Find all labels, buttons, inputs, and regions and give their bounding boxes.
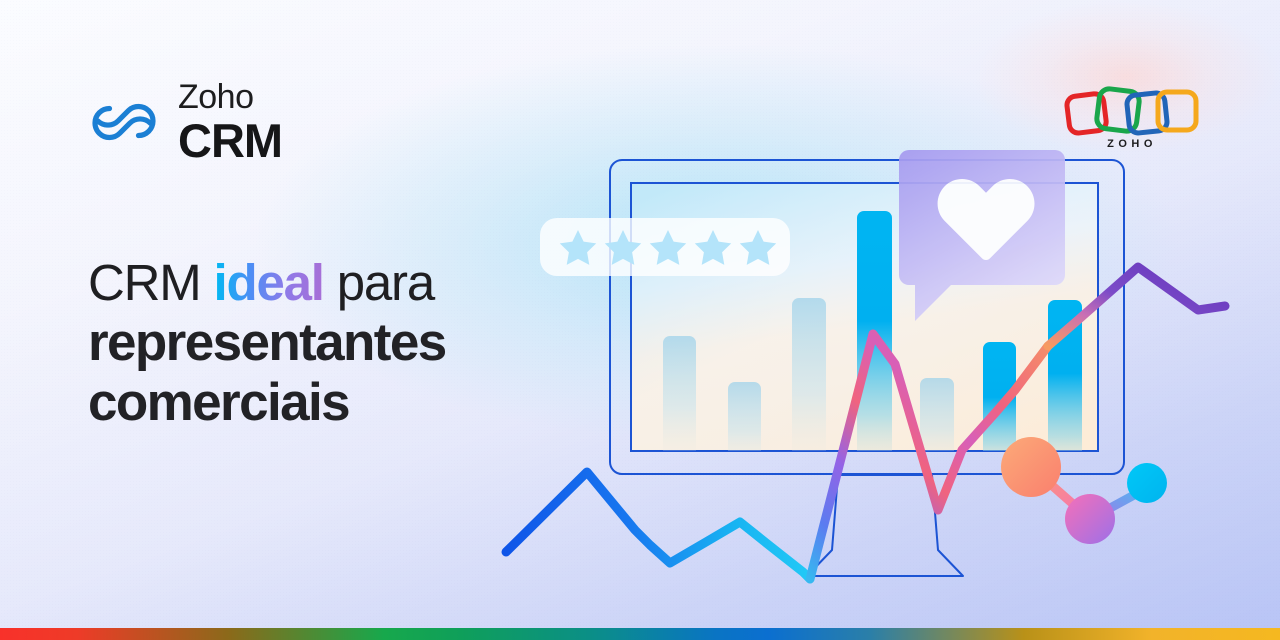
brand-gradient-strip xyxy=(0,628,1280,640)
logo-word-crm: CRM xyxy=(178,117,282,164)
headline-text-before: CRM xyxy=(88,254,214,311)
star-rating-badge xyxy=(540,218,790,276)
node-small xyxy=(1127,463,1167,503)
zoho-wordmark: ZOHO xyxy=(1107,138,1157,150)
logo-word-zoho: Zoho xyxy=(178,80,282,114)
chart-bar-2 xyxy=(728,382,761,472)
chart-line-blue xyxy=(506,472,810,579)
chart-bar-3 xyxy=(792,298,826,473)
headline-line-2: representantes xyxy=(88,315,558,372)
headline-line-3: comerciais xyxy=(88,375,558,432)
zoho-four-squares-icon xyxy=(1066,88,1196,134)
zoho-corporate-logo[interactable]: ZOHO xyxy=(1062,78,1202,150)
zoho-infinity-icon xyxy=(88,86,160,158)
node-medium xyxy=(1065,494,1115,544)
chart-monitor-illustration xyxy=(470,120,1260,620)
chart-bar-1 xyxy=(663,336,696,466)
headline: CRM ideal para representantes comerciais xyxy=(88,256,558,432)
node-large xyxy=(1001,437,1061,497)
zoho-crm-marketing-banner: Zoho CRM ZOHO CRM ideal para representan… xyxy=(0,0,1280,640)
headline-text-after: para xyxy=(324,254,434,311)
zoho-crm-logo[interactable]: Zoho CRM xyxy=(88,80,282,164)
headline-line-1: CRM ideal para xyxy=(88,256,558,311)
node-network xyxy=(1001,437,1167,544)
headline-accent-word: ideal xyxy=(214,254,324,311)
